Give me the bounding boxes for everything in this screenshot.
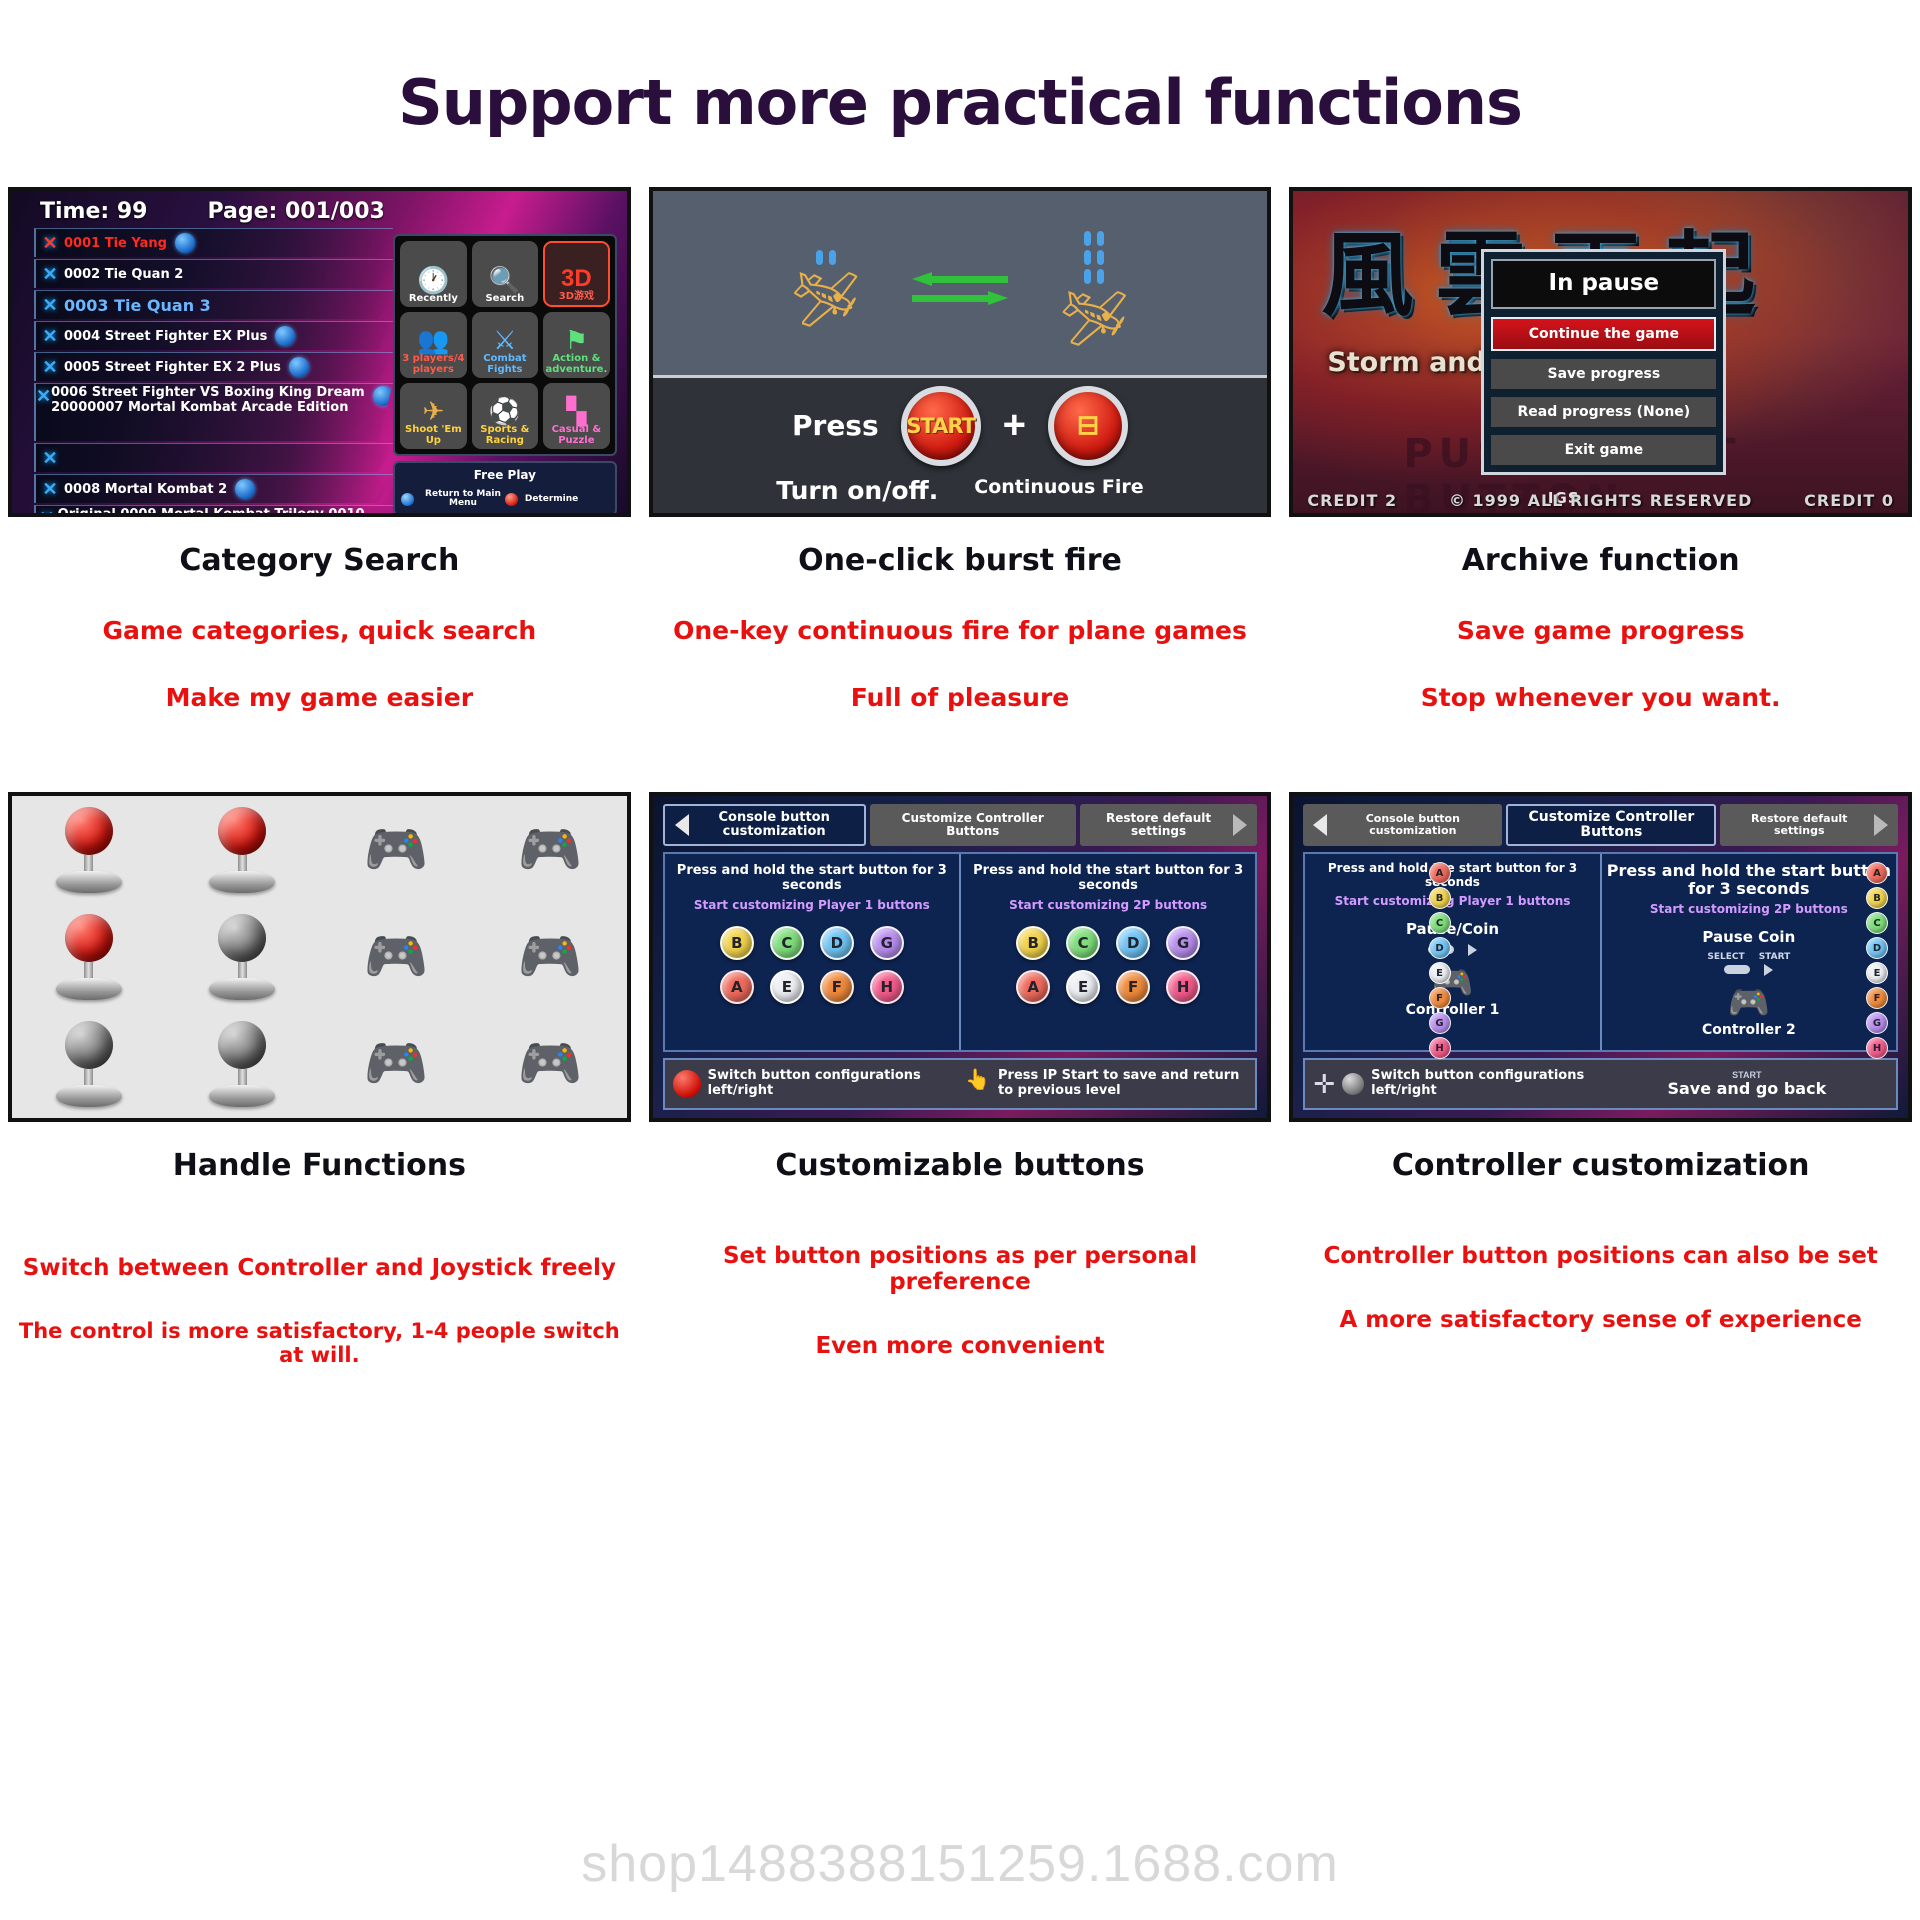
three-d-icon: 3D	[561, 267, 592, 291]
close-icon: ✕	[36, 386, 51, 407]
footer-save-hint: 👆 Press IP Start to save and return to p…	[965, 1069, 1247, 1099]
controller1-column: Press and hold the start button for 3 se…	[1305, 854, 1599, 1050]
bullet-icon	[1084, 269, 1091, 284]
game-list[interactable]: ✕ 0001 Tie Yang ✕ 0002 Tie Quan 2 ✕ 0003…	[12, 228, 393, 506]
config-button-c[interactable]: C	[1429, 912, 1451, 934]
pause-coin-label: Pause/Coin	[1406, 920, 1499, 938]
tab-label: Restore default settings	[1730, 813, 1868, 837]
joystick-icon[interactable]	[51, 1021, 127, 1107]
free-play-panel: Free Play Return to Main Menu Determine	[393, 461, 617, 516]
controller-label: Controller 1	[1406, 1002, 1500, 1018]
controller2-button-strip: A B C D E F G H	[1866, 862, 1888, 1059]
players-badge-icon	[235, 479, 255, 499]
feature-grid: Time: 99 Page: 001/003 ✕ 0001 Tie Yang ✕…	[0, 187, 1920, 712]
joystick-icon[interactable]	[204, 1021, 280, 1107]
config-button-f[interactable]: F	[1429, 987, 1451, 1009]
tab-label: Customize Controller Buttons	[1518, 810, 1704, 841]
feature-cell-controller-custom: Console button customization Customize C…	[1289, 792, 1912, 1367]
page-label: Page: 001/003	[207, 199, 384, 224]
turn-onoff-label: Turn on/off.	[776, 476, 938, 505]
list-item[interactable]: ✕ 0005 Street Fighter EX 2 Plus	[34, 352, 393, 381]
tile-label: Action & adventure.	[543, 354, 610, 375]
burst-fire-controls: Press START + ⊟ Turn on/off. Continuous …	[653, 378, 1268, 513]
customization-body: Press and hold the start button for 3 se…	[1303, 852, 1898, 1052]
caption-line-1: Game categories, quick search	[8, 616, 631, 645]
caption-line-1: One-key continuous fire for plane games	[649, 616, 1272, 645]
caption-line-2: Full of pleasure	[649, 683, 1272, 712]
gamepad-icon[interactable]: 🎮	[517, 1038, 582, 1090]
config-button-d[interactable]: D	[820, 926, 854, 960]
feature-cell-category-search: Time: 99 Page: 001/003 ✕ 0001 Tie Yang ✕…	[8, 187, 631, 712]
joystick-ball-icon	[673, 1070, 701, 1098]
close-icon: ✕	[36, 479, 64, 500]
credit-bar: CREDIT 2 © 1999 ALL RIGHTS RESERVED CRED…	[1293, 491, 1908, 510]
free-play-label: Free Play	[401, 468, 609, 482]
tile-label: Recently	[409, 294, 458, 305]
player2-column: Press and hold the start button for 3 se…	[959, 854, 1255, 1050]
list-item[interactable]: ✕ 0004 Street Fighter EX Plus	[34, 321, 393, 350]
screenshot-burst-fire: 🛩 🛩 Press	[649, 187, 1272, 517]
caption-line-1: Set button positions as per personal pre…	[649, 1243, 1272, 1295]
feature-grid-row2: 🎮 🎮 🎮 🎮 🎮 🎮 Handle Functions Switch betw…	[0, 792, 1920, 1367]
start-button[interactable]: START	[901, 386, 981, 466]
burst-fire-demo: 🛩 🛩	[653, 191, 1268, 378]
config-button-h[interactable]: H	[1166, 970, 1200, 1004]
tab-label: Console button customization	[695, 811, 854, 840]
joystick-icon[interactable]	[204, 914, 280, 1000]
config-button-c[interactable]: C	[770, 926, 804, 960]
plane-icon: ✈	[422, 398, 444, 424]
start-triangle-icon	[1468, 944, 1477, 956]
pause-item-exit[interactable]: Exit game	[1491, 435, 1716, 465]
tab-console-button-customization[interactable]: Console button customization	[663, 804, 866, 846]
list-item[interactable]: ✕ 0006 Street Fighter VS Boxing King Dre…	[34, 383, 393, 441]
plane-icon: 🛩	[1060, 292, 1129, 346]
feature-cell-handle: 🎮 🎮 🎮 🎮 🎮 🎮 Handle Functions Switch betw…	[8, 792, 631, 1367]
tab-label: Console button customization	[1333, 813, 1492, 837]
gamepad-icon[interactable]: 🎮	[517, 824, 582, 876]
hint-secondary: Start customizing Player 1 buttons	[1335, 894, 1571, 908]
controller1-button-strip: A B C D E F G H	[1429, 862, 1451, 1059]
category-tile-shooter[interactable]: ✈ Shoot 'Em Up	[400, 383, 467, 449]
config-button-b[interactable]: B	[1866, 887, 1888, 909]
tab-bar: Console button customization Customize C…	[1303, 804, 1898, 846]
clock-icon: 🕐	[417, 267, 449, 293]
footer-save-hint: START Save and go back	[1606, 1070, 1888, 1098]
config-button-g[interactable]: G	[1866, 1012, 1888, 1034]
config-button-g[interactable]: G	[1429, 1012, 1451, 1034]
caption-title: Handle Functions	[8, 1148, 631, 1183]
flag-icon: ⚑	[565, 327, 588, 353]
start-triangle-icon	[1764, 964, 1773, 976]
turbo-button[interactable]: ⊟	[1048, 386, 1128, 466]
caption-line-1: Controller button positions can also be …	[1289, 1243, 1912, 1269]
bullet-icon	[1097, 250, 1104, 265]
joystick-icon[interactable]	[51, 914, 127, 1000]
config-button-d[interactable]: D	[1866, 937, 1888, 959]
caption-title: Controller customization	[1289, 1148, 1912, 1183]
category-tile-action[interactable]: ⚑ Action & adventure.	[543, 312, 610, 378]
caption-title: One-click burst fire	[649, 543, 1272, 578]
analog-stick-icon	[1342, 1073, 1364, 1095]
select-pill-icon	[1724, 965, 1750, 974]
config-button-b[interactable]: B	[1429, 887, 1451, 909]
controller-label: Controller 2	[1702, 1022, 1796, 1038]
shop-watermark: shop1488388151259.1688.com	[0, 1834, 1920, 1894]
caption-title: Archive function	[1289, 543, 1912, 578]
chevron-left-icon	[675, 814, 689, 836]
swap-arrows-icon	[912, 273, 1008, 305]
caption-line-2: A more satisfactory sense of experience	[1289, 1307, 1912, 1333]
continuous-fire-label: Continuous Fire	[974, 476, 1143, 505]
caption-line-1: Switch between Controller and Joystick f…	[8, 1255, 631, 1281]
credit-left: CREDIT 2	[1307, 491, 1397, 510]
screenshot-archive: 風雲再起 Storm and cloud PUSH START BUTTON I…	[1289, 187, 1912, 517]
puzzle-icon: ▚	[566, 398, 586, 424]
gamepad-icon: 🎮	[1728, 986, 1770, 1020]
turbo-icon: ⊟	[1077, 410, 1100, 441]
tab-restore-default-settings[interactable]: Restore default settings	[1080, 804, 1258, 846]
caption-title: Customizable buttons	[649, 1148, 1272, 1183]
tile-label: Sports & Racing	[472, 425, 539, 446]
feature-cell-custom-buttons: Console button customization Customize C…	[649, 792, 1272, 1367]
feature-cell-archive: 風雲再起 Storm and cloud PUSH START BUTTON I…	[1289, 187, 1912, 712]
pause-item-read[interactable]: Read progress (None)	[1491, 397, 1716, 427]
config-button-f[interactable]: F	[1116, 970, 1150, 1004]
gamepad-icon[interactable]: 🎮	[364, 824, 429, 876]
list-item[interactable]: ✕ 0002 Tie Quan 2	[34, 259, 393, 288]
config-button-a[interactable]: A	[1866, 862, 1888, 884]
player1-column: Press and hold the start button for 3 se…	[665, 854, 959, 1050]
time-label: Time: 99	[40, 199, 147, 224]
tab-customize-controller-buttons[interactable]: Customize Controller Buttons	[1506, 804, 1716, 846]
players-badge-icon	[289, 357, 309, 377]
tab-restore-default-settings[interactable]: Restore default settings	[1720, 804, 1898, 846]
caption-line-2: Make my game easier	[8, 683, 631, 712]
gamepad-icon[interactable]: 🎮	[364, 1038, 429, 1090]
credit-right: CREDIT 0	[1804, 491, 1894, 510]
swords-icon: ⚔	[493, 327, 516, 353]
category-tile-3d[interactable]: 3D 3D游戏	[543, 241, 610, 307]
chevron-right-icon	[1233, 814, 1247, 836]
config-button-g[interactable]: G	[870, 926, 904, 960]
tab-console-button-customization[interactable]: Console button customization	[1303, 804, 1502, 846]
tab-label: Restore default settings	[1090, 812, 1228, 838]
config-button-a[interactable]: A	[720, 970, 754, 1004]
gamepad-group: 🎮 🎮 🎮 🎮 🎮 🎮	[319, 796, 626, 1118]
footer-switch-hint: ✛ Switch button configurations left/righ…	[1313, 1069, 1595, 1100]
page-title: Support more practical functions	[0, 0, 1920, 139]
config-button-f[interactable]: F	[820, 970, 854, 1004]
caption-line-2: Stop whenever you want.	[1289, 683, 1912, 712]
bullet-icon	[1097, 231, 1104, 246]
hint-label: Return to Main Menu	[421, 490, 505, 509]
gamepad-icon[interactable]: 🎮	[517, 931, 582, 983]
category-tile-puzzle[interactable]: ▚ Casual & Puzzle	[543, 383, 610, 449]
plus-label: +	[1003, 403, 1026, 448]
tile-label: 3 players/4 players	[400, 354, 467, 375]
config-button-b[interactable]: B	[720, 926, 754, 960]
category-menu: 🕐 Recently 🔍 Search 3D 3D游戏	[393, 228, 627, 506]
dpad-icon: ✛	[1313, 1069, 1335, 1100]
category-tile-players[interactable]: 👥 3 players/4 players	[400, 312, 467, 378]
plane-single-shot: 🛩	[791, 250, 860, 327]
config-button-g[interactable]: G	[1166, 926, 1200, 960]
close-icon: ✕	[36, 264, 64, 285]
controller2-column: Press and hold the start button for 3 se…	[1600, 854, 1896, 1050]
close-icon: ✕	[36, 357, 64, 378]
bullet-icon	[1084, 231, 1091, 246]
joystick-icon[interactable]	[51, 807, 127, 893]
determine-hint[interactable]: Determine	[505, 490, 609, 509]
screenshot-category-search: Time: 99 Page: 001/003 ✕ 0001 Tie Yang ✕…	[8, 187, 631, 517]
list-item[interactable]: ✕ Original 0009 Mortal Kombat Trilogy 00…	[34, 505, 393, 517]
game-name: 0008 Mortal Kombat 2	[64, 482, 227, 497]
list-item[interactable]: ✕ 0001 Tie Yang	[34, 228, 393, 257]
game-name: 0002 Tie Quan 2	[64, 267, 183, 282]
pause-coin-label: Pause Coin	[1702, 928, 1795, 946]
soccer-icon: ⚽	[489, 398, 521, 424]
pause-menu-title: In pause	[1491, 259, 1716, 309]
hint-primary: Press and hold the start button for 3 se…	[1309, 862, 1595, 890]
button-blue-icon	[401, 493, 414, 506]
close-icon: ✕	[36, 448, 64, 469]
pause-item-save[interactable]: Save progress	[1491, 359, 1716, 389]
tile-label: 3D游戏	[559, 292, 594, 303]
tile-label: Shoot 'Em Up	[400, 425, 467, 446]
return-main-menu-hint[interactable]: Return to Main Menu	[401, 490, 505, 509]
bullet-icon	[829, 250, 836, 265]
gamepad-icon[interactable]: 🎮	[364, 931, 429, 983]
config-button-a[interactable]: A	[1429, 862, 1451, 884]
tab-label: Customize Controller Buttons	[880, 812, 1066, 838]
hint-primary: Press and hold the start button for 3 se…	[967, 864, 1249, 894]
tile-label: Combat Fights	[472, 354, 539, 375]
list-item[interactable]: ✕ 0003 Tie Quan 3	[34, 290, 393, 319]
config-button-e[interactable]: E	[1866, 962, 1888, 984]
config-button-e[interactable]: E	[1429, 962, 1451, 984]
hint-primary: Press and hold the start button for 3 se…	[671, 864, 953, 894]
config-button-c[interactable]: C	[1866, 912, 1888, 934]
pause-menu: In pause Continue the game Save progress…	[1481, 249, 1726, 475]
tile-label: Search	[485, 294, 524, 305]
config-button-b[interactable]: B	[1016, 926, 1050, 960]
plane-burst-shot: 🛩	[1060, 231, 1129, 346]
players-badge-icon	[275, 326, 295, 346]
hint-secondary: Start customizing Player 1 buttons	[694, 898, 930, 912]
config-button-d[interactable]: D	[1116, 926, 1150, 960]
footer-left-label: Switch button configurations left/right	[1371, 1069, 1596, 1099]
hint-secondary: Start customizing 2P buttons	[1009, 898, 1207, 912]
game-name: 0003 Tie Quan 3	[64, 296, 211, 315]
caption-line-2: The control is more satisfactory, 1-4 pe…	[8, 1319, 631, 1367]
config-button-a[interactable]: A	[1016, 970, 1050, 1004]
feature-cell-burst-fire: 🛩 🛩 Press	[649, 187, 1272, 712]
caption-line-2: Even more convenient	[649, 1333, 1272, 1359]
chevron-left-icon	[1313, 814, 1327, 836]
players-badge-icon	[175, 233, 195, 253]
footer-right-label: Save and go back	[1667, 1080, 1826, 1098]
chevron-right-icon	[1874, 814, 1888, 836]
screenshot-handle-functions: 🎮 🎮 🎮 🎮 🎮 🎮	[8, 792, 631, 1122]
tab-bar: Console button customization Customize C…	[663, 804, 1258, 846]
category-tile-sports[interactable]: ⚽ Sports & Racing	[472, 383, 539, 449]
select-label: SELECT	[1707, 952, 1744, 962]
tile-label: Casual & Puzzle	[543, 425, 610, 446]
config-button-e[interactable]: E	[770, 970, 804, 1004]
footer-switch-hint: Switch button configurations left/right	[673, 1069, 955, 1099]
close-icon: ✕	[36, 233, 64, 254]
close-icon: ✕	[36, 326, 64, 347]
screenshot-controller-customization: Console button customization Customize C…	[1289, 792, 1912, 1122]
config-button-d[interactable]: D	[1429, 937, 1451, 959]
joystick-group	[12, 796, 319, 1118]
config-button-h[interactable]: H	[1866, 1037, 1888, 1059]
footer-right-label: Press IP Start to save and return to pre…	[998, 1069, 1247, 1099]
players-icon: 👥	[417, 327, 449, 353]
footer-left-label: Switch button configurations left/right	[708, 1069, 955, 1099]
game-name: 0005 Street Fighter EX 2 Plus	[64, 360, 281, 375]
config-button-h[interactable]: H	[1429, 1037, 1451, 1059]
status-bar: Time: 99 Page: 001/003	[12, 191, 627, 228]
list-item[interactable]: ✕ 0008 Mortal Kombat 2	[34, 474, 393, 503]
press-label: Press	[792, 409, 879, 442]
caption-title: Category Search	[8, 543, 631, 578]
start-label: START	[1759, 952, 1791, 962]
customization-footer: ✛ Switch button configurations left/righ…	[1303, 1058, 1898, 1110]
hand-press-icon: 👆	[965, 1070, 991, 1098]
tab-customize-controller-buttons[interactable]: Customize Controller Buttons	[870, 804, 1076, 846]
game-name: Original 0009 Mortal Kombat Trilogy 0010…	[58, 508, 393, 517]
customization-body: Press and hold the start button for 3 se…	[663, 852, 1258, 1052]
bullet-icon	[1084, 250, 1091, 265]
hint-label: Determine	[525, 495, 578, 504]
players-badge-icon	[373, 386, 393, 406]
screenshot-customizable-buttons: Console button customization Customize C…	[649, 792, 1272, 1122]
customization-footer: Switch button configurations left/right …	[663, 1058, 1258, 1110]
button-red-icon	[505, 493, 518, 506]
category-tile-search[interactable]: 🔍 Search	[472, 241, 539, 307]
hint-secondary: Start customizing 2P buttons	[1650, 902, 1848, 916]
game-name: 0004 Street Fighter EX Plus	[64, 329, 267, 344]
bullet-icon	[1097, 269, 1104, 284]
bullet-icon	[816, 250, 823, 265]
category-tile-combat[interactable]: ⚔ Combat Fights	[472, 312, 539, 378]
pause-item-continue[interactable]: Continue the game	[1491, 317, 1716, 351]
config-button-h[interactable]: H	[870, 970, 904, 1004]
hint-primary: Press and hold the start button for 3 se…	[1606, 862, 1892, 898]
game-name: 0001 Tie Yang	[64, 236, 167, 251]
caption-line-1: Save game progress	[1289, 616, 1912, 645]
close-icon: ✕	[36, 295, 64, 316]
list-item[interactable]: ✕	[34, 443, 393, 472]
start-button-label: START	[906, 414, 975, 438]
rights-label: © 1999 ALL RIGHTS RESERVED	[1449, 491, 1752, 510]
plane-icon: 🛩	[791, 273, 860, 327]
search-icon: 🔍	[489, 267, 521, 293]
game-name: 0006 Street Fighter VS Boxing King Dream…	[51, 386, 365, 415]
close-icon: ✕	[36, 508, 58, 517]
config-button-c[interactable]: C	[1066, 926, 1100, 960]
config-button-f[interactable]: F	[1866, 987, 1888, 1009]
category-tile-recently[interactable]: 🕐 Recently	[400, 241, 467, 307]
config-button-e[interactable]: E	[1066, 970, 1100, 1004]
joystick-icon[interactable]	[204, 807, 280, 893]
